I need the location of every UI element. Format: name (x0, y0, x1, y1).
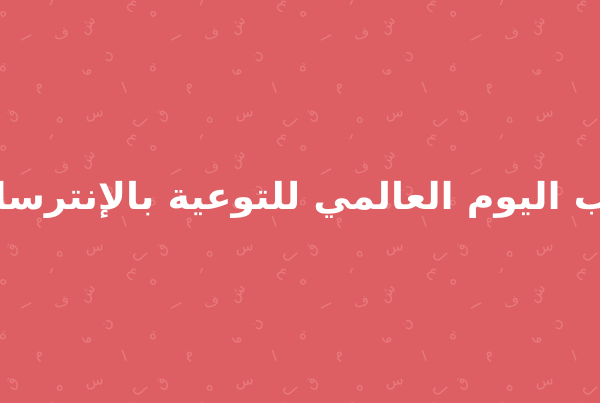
banner-canvas: ه ا ش ع ا ف ن ة م و ا ق ه س ل (0, 0, 600, 403)
headline-row: يب اليوم العالمي للتوعية بالإنترسك (0, 168, 600, 226)
headline-text: يب اليوم العالمي للتوعية بالإنترسك (0, 175, 600, 219)
